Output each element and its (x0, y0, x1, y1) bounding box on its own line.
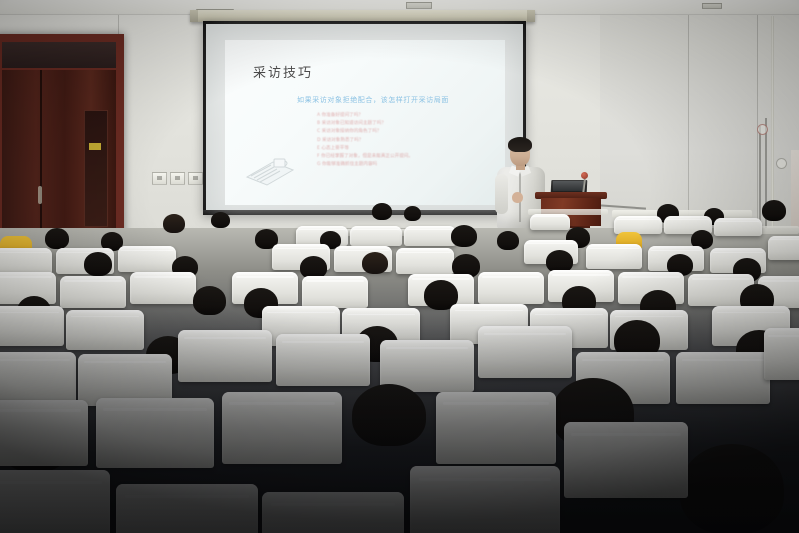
wall-outlet-1[interactable] (152, 172, 167, 185)
chair[interactable] (350, 226, 402, 246)
chair[interactable] (262, 492, 404, 533)
wall-outlet-3[interactable] (188, 172, 203, 185)
audience-head (45, 228, 69, 249)
slide-bullet: C 采访对象接纳你的角色了吗？ (317, 128, 413, 136)
side-window (791, 150, 799, 228)
chair[interactable] (178, 330, 272, 382)
projected-slide: 采访技巧 如果采访对象拒绝配合，该怎样打开采访局面 A 你准备好提问了吗？ B … (225, 40, 505, 205)
slide-bullet: F 你已经掌握了对象，但是未能真正公开提问。 (317, 153, 413, 161)
ceiling-vent-2 (702, 3, 722, 9)
wall-seam-2 (688, 8, 689, 240)
chair[interactable] (586, 244, 642, 269)
audience-head (451, 225, 477, 247)
slide-bullet: E 心态上要平等 (317, 145, 413, 153)
chair[interactable] (410, 466, 560, 533)
chair[interactable] (0, 306, 64, 346)
chair[interactable] (478, 272, 544, 304)
chair[interactable] (0, 248, 52, 274)
lecture-hall-photo: 采访技巧 如果采访对象拒绝配合，该怎样打开采访局面 A 你准备好提问了吗？ B … (0, 0, 799, 533)
slide-bullet: A 你准备好提问了吗？ (317, 112, 413, 120)
chair[interactable] (0, 470, 110, 533)
door-sidelite (84, 110, 108, 227)
chair[interactable] (276, 334, 370, 386)
chair[interactable] (130, 272, 196, 304)
audience-head (372, 203, 392, 220)
chair[interactable] (96, 398, 214, 468)
chair[interactable] (60, 276, 126, 308)
chair[interactable] (478, 326, 572, 378)
chair[interactable] (764, 328, 799, 380)
audience-head (362, 252, 388, 274)
chair[interactable] (436, 392, 556, 464)
chair[interactable] (302, 276, 368, 308)
conduit-clip-lower (776, 158, 787, 169)
projector-screen-bottom-bar (203, 210, 526, 215)
audience-head (497, 231, 519, 250)
presenter-hair (508, 137, 532, 152)
chair[interactable] (222, 392, 342, 464)
door-split (40, 70, 42, 235)
microphone-head-icon (581, 172, 588, 179)
audience-head (163, 214, 185, 233)
chair[interactable] (0, 400, 88, 466)
slide-bullet-list: A 你准备好提问了吗？ B 采访对象已知道访问主题了吗？ C 采访对象接纳你的角… (317, 112, 413, 169)
slide-subtitle: 如果采访对象拒绝配合，该怎样打开采访局面 (297, 95, 449, 105)
audience-head-foreground (352, 384, 426, 446)
door-sticker (89, 143, 101, 150)
door-transom (2, 42, 116, 68)
slide-bullet: D 采访对象熟悉了吗？ (317, 137, 413, 145)
ceiling-vent-1 (406, 2, 432, 9)
slide-title: 采访技巧 (253, 62, 313, 81)
chair[interactable] (404, 226, 456, 246)
chair[interactable] (768, 236, 799, 260)
chair[interactable] (714, 218, 762, 236)
audience-head (84, 252, 112, 276)
audience-head (211, 212, 230, 228)
laptop-screen (553, 181, 585, 191)
slide-bullet: B 采访对象已知道访问主题了吗？ (317, 120, 413, 128)
presenter-hand (512, 192, 523, 203)
chair[interactable] (0, 352, 76, 404)
chair[interactable] (530, 214, 570, 230)
chair[interactable] (564, 422, 688, 498)
wall-conduit-main (771, 16, 774, 228)
chair[interactable] (118, 246, 176, 272)
newspaper-coffee-icon (243, 153, 297, 187)
wall-outlet-2[interactable] (170, 172, 185, 185)
audience-head-foreground (680, 444, 784, 533)
door-handle[interactable] (38, 186, 42, 204)
presenter-arm (495, 174, 508, 214)
audience-head (193, 286, 226, 315)
chair[interactable] (66, 310, 144, 350)
audience-head (404, 206, 421, 221)
chair[interactable] (676, 352, 770, 404)
chair[interactable] (116, 484, 258, 533)
conduit-clip-upper (757, 124, 768, 135)
slide-bullet: G 你能够准确抓住主题内容吗 (317, 161, 413, 169)
audience-head (762, 200, 786, 221)
chair[interactable] (396, 248, 454, 274)
wall-conduit-thin-2 (759, 126, 761, 226)
wall-seam-3 (757, 8, 758, 228)
